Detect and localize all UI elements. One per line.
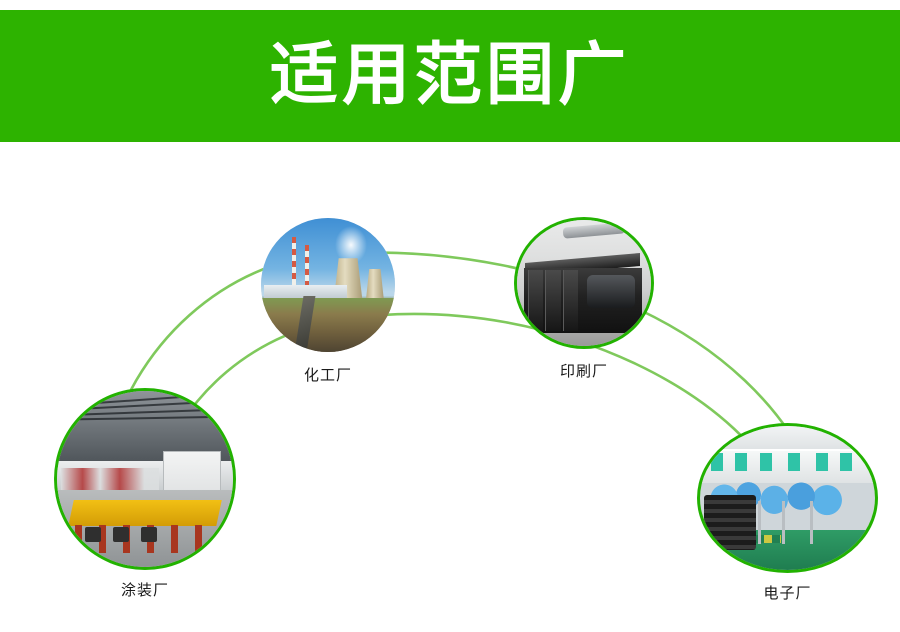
electronics-plant-image bbox=[700, 426, 875, 570]
printing-plant-scene bbox=[517, 220, 651, 346]
chemical-plant-image bbox=[261, 218, 395, 352]
component-bin bbox=[760, 453, 772, 470]
workstation-leg bbox=[810, 501, 813, 544]
component-bin bbox=[788, 453, 800, 470]
chemical-plant-scene bbox=[261, 218, 395, 352]
smokestack-icon bbox=[305, 245, 309, 288]
header-banner: 适用范围广 bbox=[0, 10, 900, 142]
component-bin bbox=[711, 453, 723, 470]
diagram-node-chemical-plant[interactable]: 化工厂 bbox=[261, 218, 395, 352]
smoke-plume-icon bbox=[335, 226, 367, 264]
diagram-node-electronics-plant[interactable]: 电子厂 bbox=[700, 426, 875, 570]
page-root: 适用范围广 bbox=[0, 0, 900, 632]
printing-plant-label: 印刷厂 bbox=[560, 360, 608, 381]
press-unit bbox=[563, 270, 579, 330]
press-roller bbox=[587, 275, 635, 308]
electronics-plant-scene bbox=[700, 426, 875, 570]
press-unit bbox=[528, 270, 544, 330]
diagram-node-printing-plant[interactable]: 印刷厂 bbox=[517, 220, 651, 346]
bench-motor bbox=[85, 527, 101, 543]
component-bin bbox=[735, 453, 747, 470]
workstation-leg bbox=[758, 501, 761, 544]
workstation-leg bbox=[782, 501, 785, 544]
page-title: 适用范围广 bbox=[270, 42, 630, 110]
bench-motor bbox=[141, 527, 157, 543]
parts-trays bbox=[704, 495, 757, 550]
electronics-plant-label: 电子厂 bbox=[763, 582, 811, 603]
coating-plant-scene bbox=[57, 391, 233, 567]
smokestack-icon bbox=[292, 237, 296, 288]
connector-inner-arc bbox=[150, 314, 790, 504]
roof-truss bbox=[57, 415, 233, 421]
diagram-node-coating-plant[interactable]: 涂装厂 bbox=[57, 391, 233, 567]
coating-plant-label: 涂装厂 bbox=[121, 579, 169, 600]
chemical-plant-label: 化工厂 bbox=[304, 364, 352, 385]
component-bin bbox=[840, 453, 852, 470]
printing-plant-image bbox=[517, 220, 651, 346]
ground-area bbox=[261, 298, 395, 352]
yellow-workbench bbox=[68, 500, 221, 526]
press-unit bbox=[545, 270, 561, 330]
coating-plant-image bbox=[57, 391, 233, 567]
bench-motor bbox=[113, 527, 129, 543]
component-bin bbox=[816, 453, 828, 470]
industry-diagram: 化工厂 印刷厂 bbox=[0, 142, 900, 632]
